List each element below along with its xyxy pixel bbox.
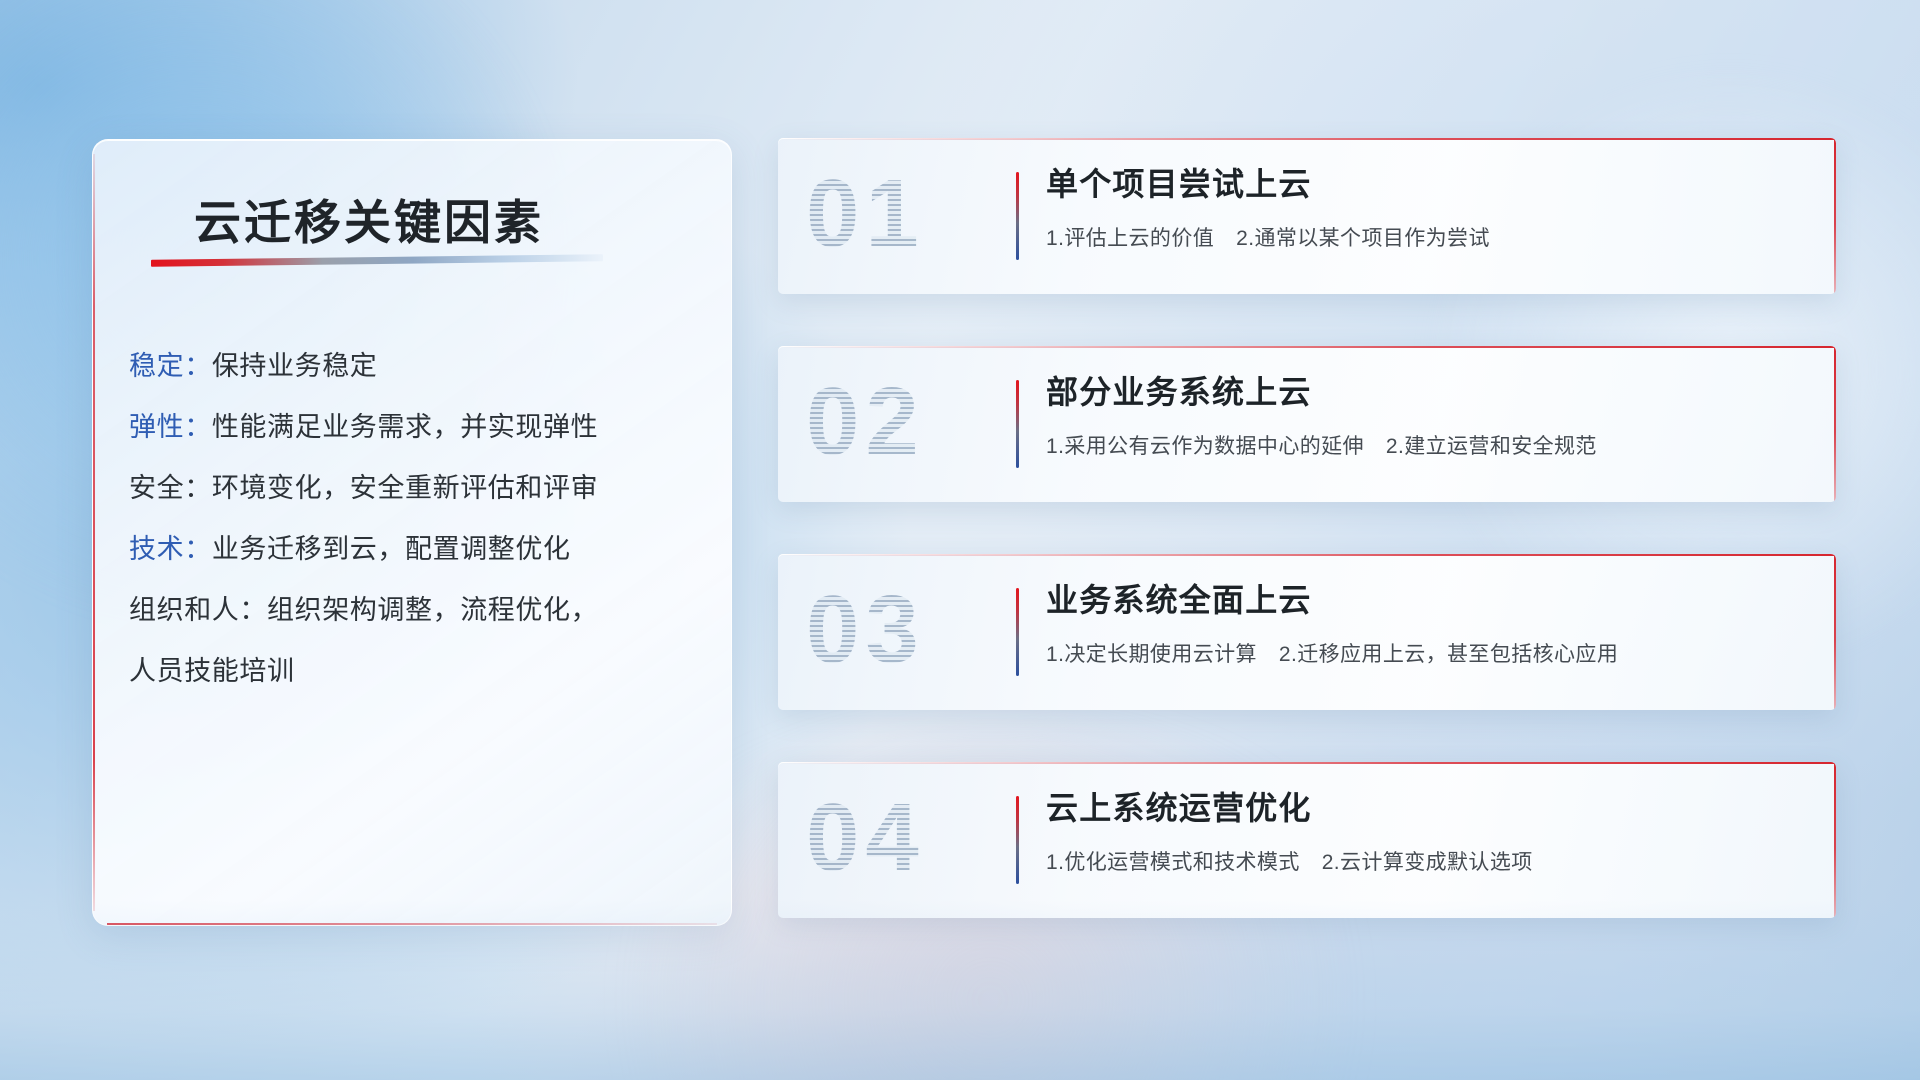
stage-divider-bar xyxy=(1016,172,1019,260)
stage-point-1: 1.采用公有云作为数据中心的延伸 xyxy=(1046,435,1364,458)
factor-item: 弹性：性能满足业务需求，并实现弹性 xyxy=(129,397,705,458)
card-accent-edge-right xyxy=(1834,346,1836,502)
stage-title: 业务系统全面上云 xyxy=(1046,576,1806,624)
factor-item: 稳定：保持业务稳定 xyxy=(129,336,705,397)
stage-number: 01 xyxy=(806,152,1006,276)
factor-text: 人员技能培训 xyxy=(129,656,295,686)
factor-label: 弹性： xyxy=(129,412,212,442)
slide-canvas: 云迁移关键因素 稳定：保持业务稳定 弹性：性能满足业务需求，并实现弹性 安全：环… xyxy=(0,0,1920,1080)
factor-item: 技术：业务迁移到云，配置调整优化 xyxy=(129,519,705,580)
stage-number: 04 xyxy=(806,776,1006,900)
stage-card-01[interactable]: 01 01 单个项目尝试上云 1.评估上云的价值2.通常以某个项目作为尝试 xyxy=(778,138,1836,294)
card-accent-edge-top xyxy=(778,554,1836,556)
factor-item-continuation: 人员技能培训 xyxy=(129,641,705,702)
card-accent-edge-right xyxy=(1834,554,1836,710)
factor-text: 性能满足业务需求，并实现弹性 xyxy=(212,412,598,442)
stage-point-1: 1.优化运营模式和技术模式 xyxy=(1046,851,1300,874)
stage-body: 云上系统运营优化 1.优化运营模式和技术模式2.云计算变成默认选项 xyxy=(1046,784,1806,876)
stage-description: 1.决定长期使用云计算2.迁移应用上云，甚至包括核心应用 xyxy=(1046,638,1806,668)
card-accent-edge-top xyxy=(778,346,1836,348)
stage-body: 业务系统全面上云 1.决定长期使用云计算2.迁移应用上云，甚至包括核心应用 xyxy=(1046,576,1806,668)
factor-label: 组织和人： xyxy=(129,595,267,625)
title-underline-gradient xyxy=(151,254,603,267)
stage-point-2: 2.通常以某个项目作为尝试 xyxy=(1236,227,1490,250)
stage-point-2: 2.迁移应用上云，甚至包括核心应用 xyxy=(1279,643,1618,666)
stage-card-02[interactable]: 02 02 部分业务系统上云 1.采用公有云作为数据中心的延伸2.建立运营和安全… xyxy=(778,346,1836,502)
panel-accent-edge-left xyxy=(93,154,95,911)
factor-text: 保持业务稳定 xyxy=(212,351,378,381)
stage-body: 单个项目尝试上云 1.评估上云的价值2.通常以某个项目作为尝试 xyxy=(1046,160,1806,252)
stage-divider-bar xyxy=(1016,588,1019,676)
stage-card-04[interactable]: 04 04 云上系统运营优化 1.优化运营模式和技术模式2.云计算变成默认选项 xyxy=(778,762,1836,918)
factor-label: 稳定： xyxy=(129,351,212,381)
stage-point-1: 1.决定长期使用云计算 xyxy=(1046,643,1257,666)
card-accent-edge-top xyxy=(778,762,1836,764)
factor-label: 技术： xyxy=(129,534,212,564)
card-accent-edge-right xyxy=(1834,138,1836,294)
stage-point-1: 1.评估上云的价值 xyxy=(1046,227,1214,250)
factor-text: 组织架构调整，流程优化， xyxy=(267,595,598,625)
factor-item: 组织和人：组织架构调整，流程优化， xyxy=(129,580,705,641)
stage-title: 单个项目尝试上云 xyxy=(1046,160,1806,208)
key-factors-panel: 云迁移关键因素 稳定：保持业务稳定 弹性：性能满足业务需求，并实现弹性 安全：环… xyxy=(92,139,732,926)
stage-number: 02 xyxy=(806,360,1006,484)
factor-text: 环境变化，安全重新评估和评审 xyxy=(212,473,598,503)
migration-stage-list: 01 01 单个项目尝试上云 1.评估上云的价值2.通常以某个项目作为尝试 02… xyxy=(778,138,1836,970)
page-title: 云迁移关键因素 xyxy=(194,184,544,253)
factor-list: 稳定：保持业务稳定 弹性：性能满足业务需求，并实现弹性 安全：环境变化，安全重新… xyxy=(129,336,705,702)
stage-description: 1.采用公有云作为数据中心的延伸2.建立运营和安全规范 xyxy=(1046,430,1806,460)
stage-card-03[interactable]: 03 03 业务系统全面上云 1.决定长期使用云计算2.迁移应用上云，甚至包括核… xyxy=(778,554,1836,710)
stage-description: 1.优化运营模式和技术模式2.云计算变成默认选项 xyxy=(1046,846,1806,876)
stage-description: 1.评估上云的价值2.通常以某个项目作为尝试 xyxy=(1046,222,1806,252)
factor-item: 安全：环境变化，安全重新评估和评审 xyxy=(129,458,705,519)
stage-title: 云上系统运营优化 xyxy=(1046,784,1806,832)
stage-body: 部分业务系统上云 1.采用公有云作为数据中心的延伸2.建立运营和安全规范 xyxy=(1046,368,1806,460)
factor-text: 业务迁移到云，配置调整优化 xyxy=(212,534,571,564)
card-accent-edge-top xyxy=(778,138,1836,140)
stage-point-2: 2.建立运营和安全规范 xyxy=(1386,435,1597,458)
card-accent-edge-right xyxy=(1834,762,1836,918)
stage-point-2: 2.云计算变成默认选项 xyxy=(1322,851,1533,874)
factor-label: 安全： xyxy=(129,473,212,503)
panel-accent-edge-bottom xyxy=(107,923,717,925)
stage-divider-bar xyxy=(1016,380,1019,468)
stage-title: 部分业务系统上云 xyxy=(1046,368,1806,416)
stage-divider-bar xyxy=(1016,796,1019,884)
stage-number: 03 xyxy=(806,568,1006,692)
